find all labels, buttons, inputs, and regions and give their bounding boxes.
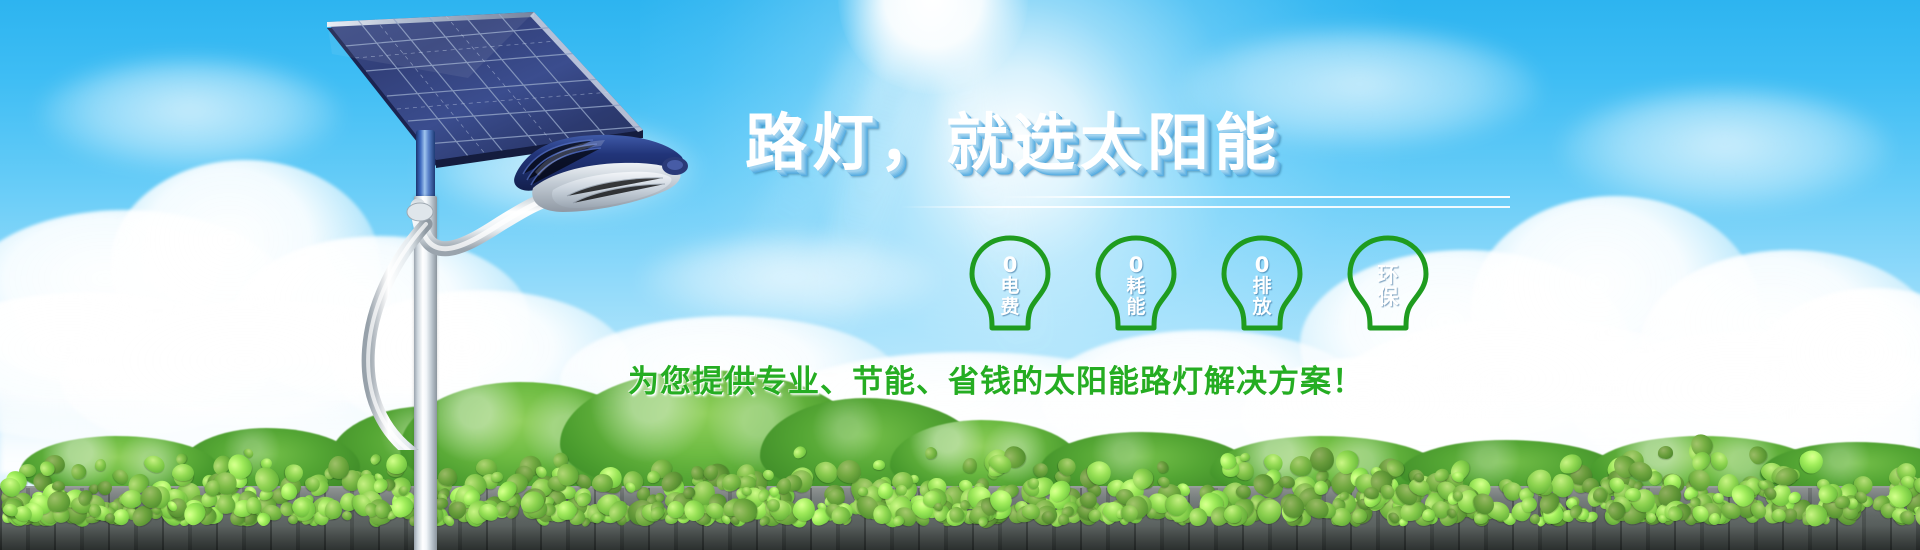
badge-label-line1: 电 <box>1000 276 1019 296</box>
badge-text: 环 保 <box>1336 232 1440 336</box>
badge-label-line1: 环 <box>1378 264 1399 286</box>
badge-label-line2: 费 <box>1000 297 1019 317</box>
badge-label: 电 费 <box>1000 276 1019 316</box>
badge-label-line2: 能 <box>1126 297 1145 317</box>
feature-badge-list: 0 电 费 0 耗 能 <box>958 232 1478 336</box>
banner-copy: 路灯，就选太阳能 0 电 费 <box>0 0 1920 550</box>
badge-label-line2: 保 <box>1378 286 1399 308</box>
badge-zero: 0 <box>1003 255 1018 276</box>
badge-label: 排 放 <box>1252 276 1271 316</box>
badge-label-line1: 耗 <box>1126 276 1145 296</box>
badge-label: 耗 能 <box>1126 276 1145 316</box>
page-title: 路灯，就选太阳能 <box>745 92 1281 182</box>
divider-upper <box>1002 196 1510 198</box>
badge-text: 0 排 放 <box>1210 232 1314 336</box>
badge-label-line1: 排 <box>1252 276 1271 296</box>
solar-street-lamp-banner: 路灯，就选太阳能 0 电 费 <box>0 0 1920 550</box>
divider-lower <box>900 206 1510 208</box>
badge-zero: 0 <box>1129 255 1144 276</box>
badge-text: 0 电 费 <box>958 232 1062 336</box>
feature-badge-haoneng: 0 耗 能 <box>1084 232 1188 336</box>
feature-badge-dianfei: 0 电 费 <box>958 232 1062 336</box>
feature-badge-paifang: 0 排 放 <box>1210 232 1314 336</box>
feature-badge-huanbao: 环 保 <box>1336 232 1440 336</box>
banner-subtitle: 为您提供专业、节能、省钱的太阳能路灯解决方案！ <box>628 356 1364 401</box>
badge-label: 环 保 <box>1378 264 1399 309</box>
badge-label-line2: 放 <box>1252 297 1271 317</box>
badge-zero: 0 <box>1255 255 1270 276</box>
badge-text: 0 耗 能 <box>1084 232 1188 336</box>
